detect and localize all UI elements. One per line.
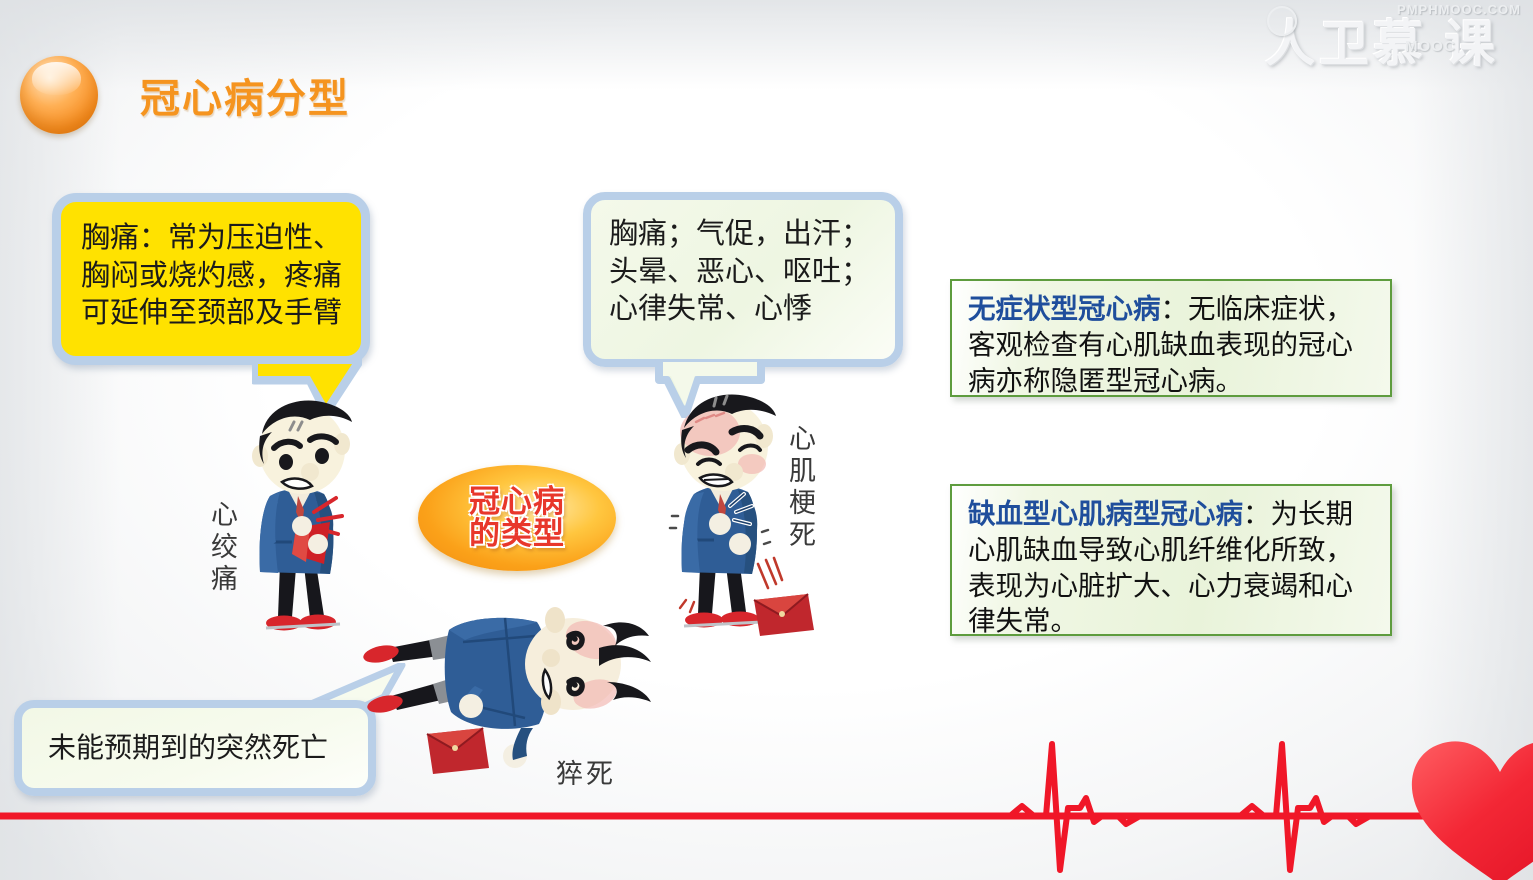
infobox-asymptomatic: 无症状型冠心病：无临床症状，客观检查有心肌缺血表现的冠心病亦称隐匿型冠心病。 — [950, 279, 1392, 397]
brand-logo-sub: MOOC — [1405, 38, 1456, 55]
brand-logo-mark-icon — [1267, 6, 1297, 36]
speech-bubble-angina: 胸痛：常为压迫性、 胸闷或烧灼感，疼痛 可延伸至颈部及手臂 — [52, 193, 370, 365]
heart-icon — [1412, 741, 1533, 880]
page-title: 冠心病分型 — [140, 66, 350, 124]
center-badge-line2: 的类型 — [469, 518, 565, 550]
label-angina: 心绞痛 — [208, 500, 235, 596]
speech-bubble-myocardial-infarction: 胸痛；气促，出汗； 头晕、恶心、呕吐； 心律失常、心悸 — [583, 192, 903, 367]
speech-bubble-myocardial-infarction-text: 胸痛；气促，出汗； 头晕、恶心、呕吐； 心律失常、心悸 — [591, 200, 895, 329]
center-badge: 冠心病 的类型 — [418, 465, 616, 571]
label-myocardial-infarction: 心肌梗死 — [786, 424, 813, 552]
infobox-ischemic-paragraph: 缺血型心肌病型冠心病：为长期心肌缺血导致心肌纤维化所致，表现为心脏扩大、心力衰竭… — [968, 496, 1376, 639]
brand-logo-site: PMPHMOOC.COM — [1397, 2, 1521, 17]
brand-logo: 人卫慕 课 PMPHMOOC.COM MOOC — [1257, 2, 1525, 64]
title-bullet-icon — [20, 56, 98, 134]
ecg-waveform — [930, 744, 1420, 870]
infobox-asymptomatic-lead: 无症状型冠心病 — [968, 293, 1161, 324]
center-badge-text: 冠心病 的类型 — [418, 465, 616, 571]
ecg-decoration — [0, 690, 1533, 880]
infobox-asymptomatic-paragraph: 无症状型冠心病：无临床症状，客观检查有心肌缺血表现的冠心病亦称隐匿型冠心病。 — [968, 291, 1376, 398]
infobox-ischemic-cardiomyopathy: 缺血型心肌病型冠心病：为长期心肌缺血导致心肌纤维化所致，表现为心脏扩大、心力衰竭… — [950, 484, 1392, 636]
center-badge-line1: 冠心病 — [469, 486, 565, 518]
slide-canvas: 冠心病分型 人卫慕 课 PMPHMOOC.COM MOOC 胸痛：常为压迫性、 … — [0, 0, 1533, 880]
infobox-ischemic-lead: 缺血型心肌病型冠心病 — [968, 498, 1243, 529]
speech-bubble-angina-text: 胸痛：常为压迫性、 胸闷或烧灼感，疼痛 可延伸至颈部及手臂 — [61, 202, 361, 333]
illustration-angina-figure — [218, 392, 378, 647]
